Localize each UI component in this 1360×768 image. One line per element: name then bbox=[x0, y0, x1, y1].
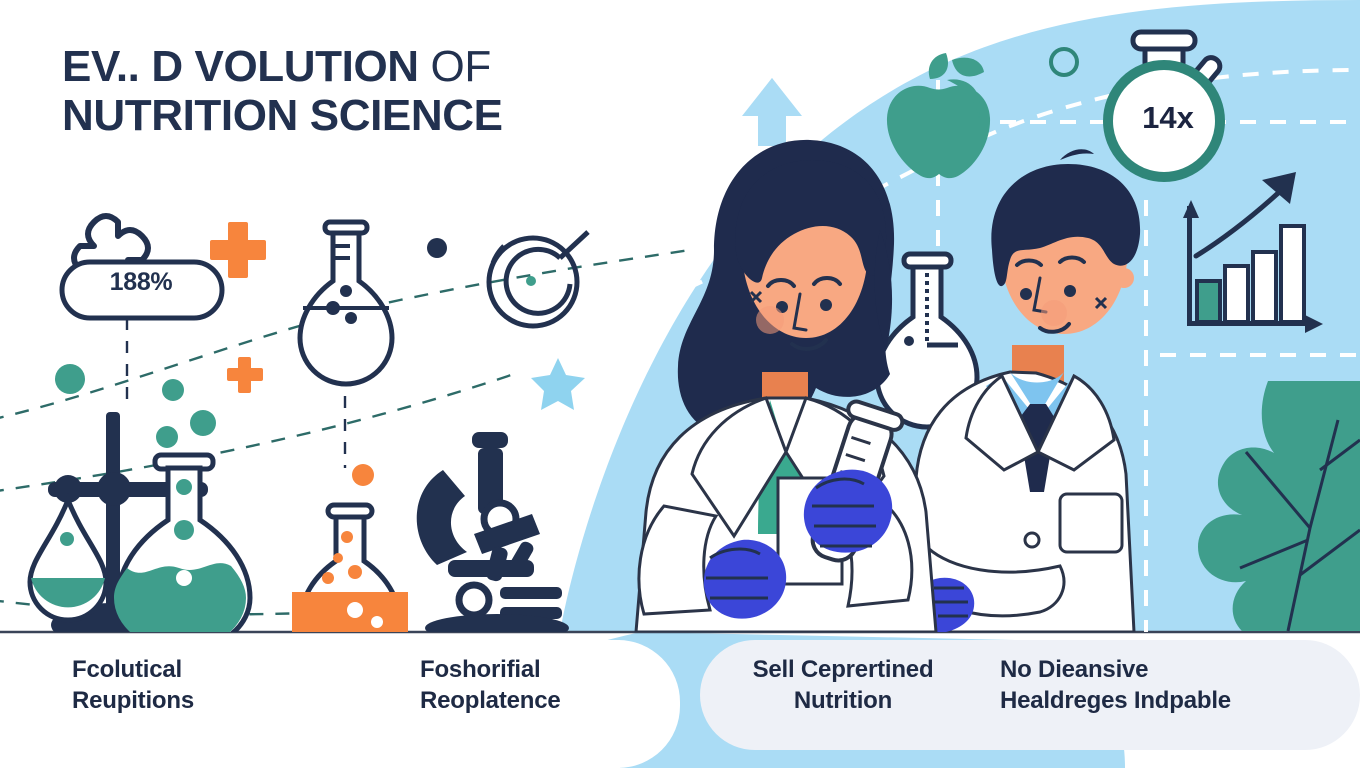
caption-2-line-2: Reoplatence bbox=[420, 687, 561, 714]
caption-1-line-1: Fcolutical bbox=[72, 656, 182, 683]
caption-2-line-1: Foshorifial bbox=[420, 656, 540, 683]
title-line-1-light: OF bbox=[431, 42, 491, 91]
page-title: EV.. D VOLUTION OF NUTRITION SCIENCE bbox=[62, 42, 702, 141]
female-scientist bbox=[636, 140, 936, 632]
caption-2: Foshorifial Reoplatence bbox=[420, 655, 690, 716]
caption-1-line-2: Reupitions bbox=[72, 687, 194, 714]
percent-pill-value: 188% bbox=[76, 268, 206, 297]
caption-4: No Dieansive Healdreges Indpable bbox=[1000, 655, 1330, 716]
infographic-canvas: EV.. D VOLUTION OF NUTRITION SCIENCE 188… bbox=[0, 0, 1360, 768]
caption-3-line-1: Sell Ceprertined bbox=[753, 656, 934, 683]
title-line-1-bold: EV.. D VOLUTION bbox=[62, 42, 419, 91]
caption-3: Sell Ceprertined Nutrition bbox=[718, 655, 968, 716]
title-line-2: NUTRITION SCIENCE bbox=[62, 91, 503, 140]
caption-4-line-1: No Dieansive bbox=[1000, 656, 1148, 683]
caption-4-line-2: Healdreges Indpable bbox=[1000, 687, 1231, 714]
male-scientist bbox=[906, 149, 1140, 633]
caption-1: Fcolutical Reupitions bbox=[72, 655, 332, 716]
stopwatch-value: 14x bbox=[1108, 100, 1228, 136]
caption-3-line-2: Nutrition bbox=[794, 687, 892, 714]
